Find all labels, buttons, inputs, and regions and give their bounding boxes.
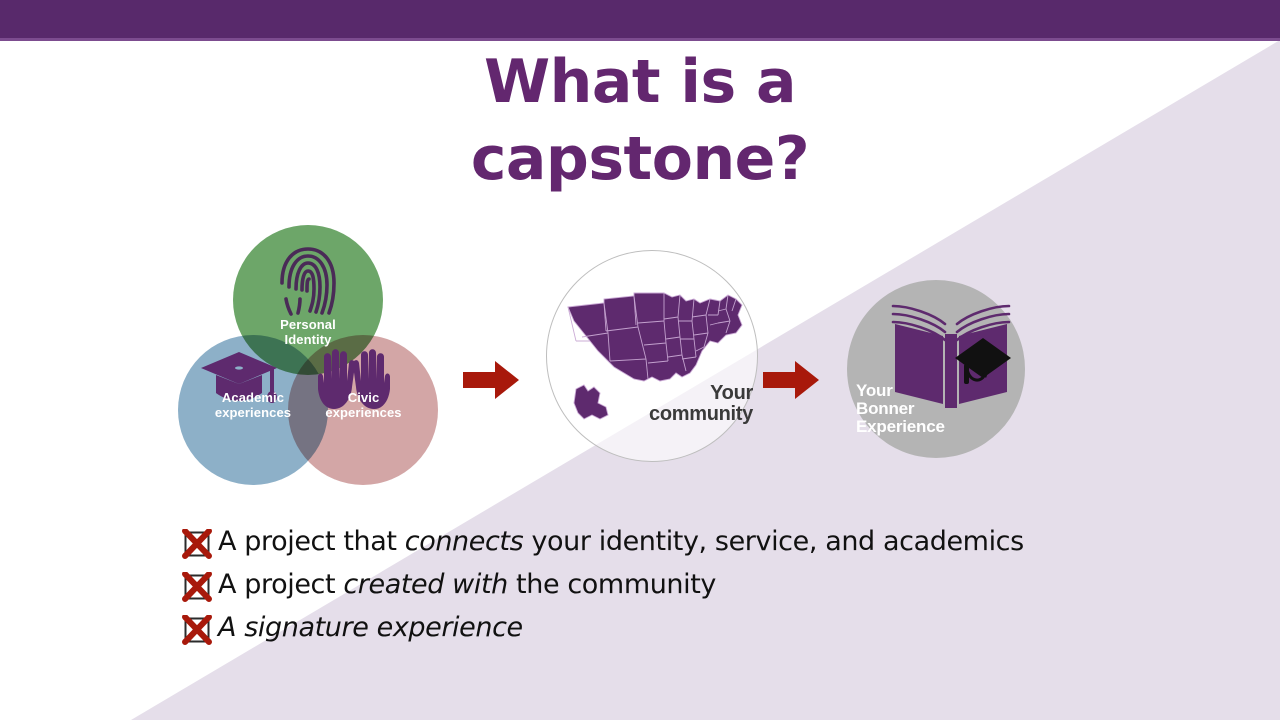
venn-label-line-1: Civic [348,390,380,405]
community-circle: Your community [546,250,758,462]
bonner-label: Your Bonner Experience [856,382,986,436]
red-x-checkbox-icon [182,529,212,559]
community-label-line-1: Your [710,382,753,404]
list-item-text: A signature experience [218,610,523,646]
bonner-experience-circle: Your Bonner Experience [847,280,1025,458]
page-title: What is a capstone? [0,44,1280,198]
bonner-label-line-1: Your [856,381,893,400]
right-arrow-icon-2 [763,360,819,400]
venn-label-line-2: Identity [284,332,331,347]
bullet-list: A project that connects your identity, s… [182,524,1024,653]
red-x-checkbox-icon [182,615,212,645]
venn-label-line-1: Academic [222,390,284,405]
community-label-line-2: community [649,403,753,425]
bonner-label-line-3: Experience [856,417,945,436]
venn-diagram: Personal Identity Academic experiences C… [178,225,438,480]
top-bar-accent-line [0,38,1280,41]
venn-label-line-2: experiences [325,405,401,420]
title-line-2: capstone? [0,121,1280,198]
list-item-text: A project that connects your identity, s… [218,524,1024,560]
title-line-1: What is a [484,47,796,117]
venn-label-line-2: experiences [215,405,291,420]
bonner-label-line-2: Bonner [856,399,914,418]
list-item: A project created with the community [182,567,1024,603]
list-item: A project that connects your identity, s… [182,524,1024,560]
venn-label-civic-experiences: Civic experiences [296,390,431,421]
venn-label-personal-identity: Personal Identity [258,317,358,348]
red-x-checkbox-icon [182,572,212,602]
top-purple-bar [0,0,1280,38]
right-arrow-icon-1 [463,360,519,400]
slide-canvas: What is a capstone? [0,0,1280,720]
list-item-text: A project created with the community [218,567,716,603]
capstone-flow-graphic: Personal Identity Academic experiences C… [0,225,1280,490]
list-item: A signature experience [182,610,1024,646]
venn-label-line-1: Personal [280,317,336,332]
fingerprint-icon [276,243,340,324]
community-label: Your community [603,383,753,425]
